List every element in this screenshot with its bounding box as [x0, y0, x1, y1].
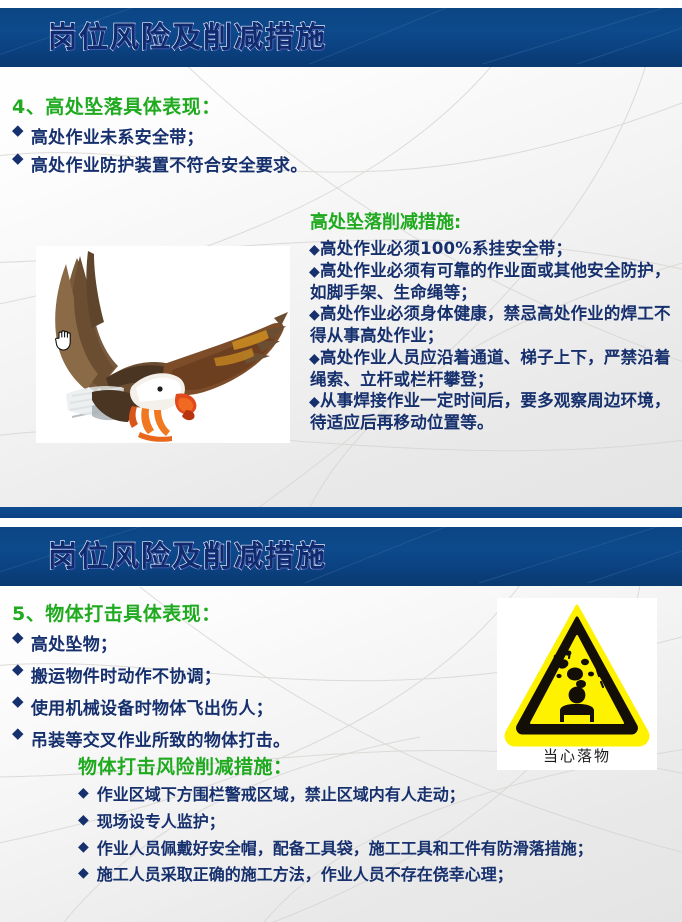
measure-text: 高处作业必须有可靠的作业面或其他安全防护，如脚手架、生命绳等； [310, 261, 671, 302]
bullet-item: ◆ 搬运物件时动作不协调； [12, 662, 290, 687]
diamond-bullet-icon: ◆ [309, 242, 320, 258]
slide-object-strike: 岗位风险及削减措施 5、物体打击具体表现： ◆ 高处坠物； ◆ 搬运物件时动作不… [0, 527, 682, 922]
diamond-bullet-icon: ◆ [78, 839, 89, 855]
warning-sign-caption: 当心落物 [497, 745, 657, 766]
diamond-bullet-icon: ◆ [12, 662, 24, 678]
hand-cursor-icon [54, 328, 76, 352]
diamond-bullet-icon: ◆ [78, 812, 89, 828]
measure-item: ◆ 施工人员采取正确的施工方法，作业人员不存在侥幸心理； [78, 865, 678, 886]
diamond-bullet-icon: ◆ [309, 307, 320, 323]
measure-text: 作业人员佩戴好安全帽，配备工具袋，施工工具和工件有防滑落措施； [97, 839, 593, 860]
slide-deck: 岗位风险及削减措施 4、高处坠落具体表现： ◆ 高处作业未系安全带； ◆ 高处作… [0, 0, 682, 922]
measure-item: ◆高处作业人员应沿着通道、梯子上下，严禁沿着绳索、立杆或栏杆攀登； [310, 347, 672, 391]
measure-text: 施工人员采取正确的施工方法，作业人员不存在侥幸心理； [97, 865, 513, 886]
slide-title: 岗位风险及削减措施 [48, 14, 327, 56]
warning-sign-falling-objects[interactable]: 当心落物 [497, 598, 657, 770]
bullet-text: 吊装等交叉作业所致的物体打击。 [31, 726, 291, 751]
object-strike-bullet-list: ◆ 高处坠物； ◆ 搬运物件时动作不协调； ◆ 使用机械设备时物体飞出伤人； ◆… [12, 630, 290, 751]
diamond-bullet-icon: ◆ [12, 123, 24, 139]
bullet-text: 搬运物件时动作不协调； [31, 662, 221, 687]
measure-item: ◆高处作业必须身体健康，禁忌高处作业的焊工不得从事高处作业； [310, 303, 672, 347]
object-strike-measures-list: ◆ 作业区域下方围栏警戒区域，禁止区域内有人走动； ◆ 现场设专人监护； ◆ 作… [78, 785, 678, 886]
measure-item: ◆高处作业必须有可靠的作业面或其他安全防护，如脚手架、生命绳等； [310, 260, 672, 304]
slide-title-band: 岗位风险及削减措施 [0, 8, 682, 64]
measure-item: ◆从事焊接作业一定时间后，要多观察周边环境，待适应后再移动位置等。 [310, 390, 672, 434]
bullet-text: 高处作业防护装置不符合安全要求。 [31, 151, 308, 176]
diamond-bullet-icon: ◆ [309, 351, 320, 367]
diamond-bullet-icon: ◆ [78, 785, 89, 801]
measure-text: 现场设专人监护； [97, 812, 225, 833]
slide-title: 岗位风险及削减措施 [48, 533, 327, 575]
bullet-item: ◆ 吊装等交叉作业所致的物体打击。 [12, 726, 290, 751]
warning-sign-artwork [497, 598, 657, 748]
slide-title-band: 岗位风险及削减措施 [0, 527, 682, 583]
diamond-bullet-icon: ◆ [12, 151, 24, 167]
measures-heading: 物体打击风险削减措施： [78, 752, 293, 779]
measure-item: ◆高处作业必须100%系挂安全带； [310, 238, 672, 260]
diamond-bullet-icon: ◆ [78, 865, 89, 881]
measure-text: 高处作业人员应沿着通道、梯子上下，严禁沿着绳索、立杆或栏杆攀登； [310, 348, 671, 389]
section-heading: 5、物体打击具体表现： [12, 599, 221, 626]
bullet-item: ◆ 高处坠物； [12, 630, 290, 655]
diamond-bullet-icon: ◆ [309, 264, 320, 280]
bullet-text: 高处坠物； [31, 630, 118, 655]
slide-fall-from-height: 岗位风险及削减措施 4、高处坠落具体表现： ◆ 高处作业未系安全带； ◆ 高处作… [0, 8, 682, 518]
slide-bottom-band [0, 507, 682, 518]
diamond-bullet-icon: ◆ [12, 726, 24, 742]
measure-text: 从事焊接作业一定时间后，要多观察周边环境，待适应后再移动位置等。 [310, 391, 671, 432]
diamond-bullet-icon: ◆ [12, 694, 24, 710]
measure-text: 高处作业必须身体健康，禁忌高处作业的焊工不得从事高处作业； [310, 304, 671, 345]
section-heading: 4、高处坠落具体表现： [12, 92, 221, 119]
measure-item: ◆ 作业人员佩戴好安全帽，配备工具袋，施工工具和工件有防滑落措施； [78, 839, 678, 860]
bullet-item: ◆ 高处作业防护装置不符合安全要求。 [12, 151, 308, 176]
bullet-text: 高处作业未系安全带； [31, 123, 204, 148]
diamond-bullet-icon: ◆ [12, 630, 24, 646]
bullet-item: ◆ 使用机械设备时物体飞出伤人； [12, 694, 290, 719]
measure-text: 作业区域下方围栏警戒区域，禁止区域内有人走动； [97, 785, 465, 806]
measures-heading: 高处坠落削减措施: [310, 208, 672, 234]
measure-item: ◆ 作业区域下方围栏警戒区域，禁止区域内有人走动； [78, 785, 678, 806]
measure-text: 高处作业必须100%系挂安全带； [320, 239, 572, 258]
diamond-bullet-icon: ◆ [309, 394, 320, 410]
fall-measures-block: 高处坠落削减措施: ◆高处作业必须100%系挂安全带； ◆高处作业必须有可靠的作… [310, 208, 672, 434]
bullet-item: ◆ 高处作业未系安全带； [12, 123, 204, 148]
title-underline [0, 64, 682, 67]
bullet-text: 使用机械设备时物体飞出伤人； [31, 694, 273, 719]
measure-item: ◆ 现场设专人监护； [78, 812, 678, 833]
title-underline [0, 583, 682, 586]
